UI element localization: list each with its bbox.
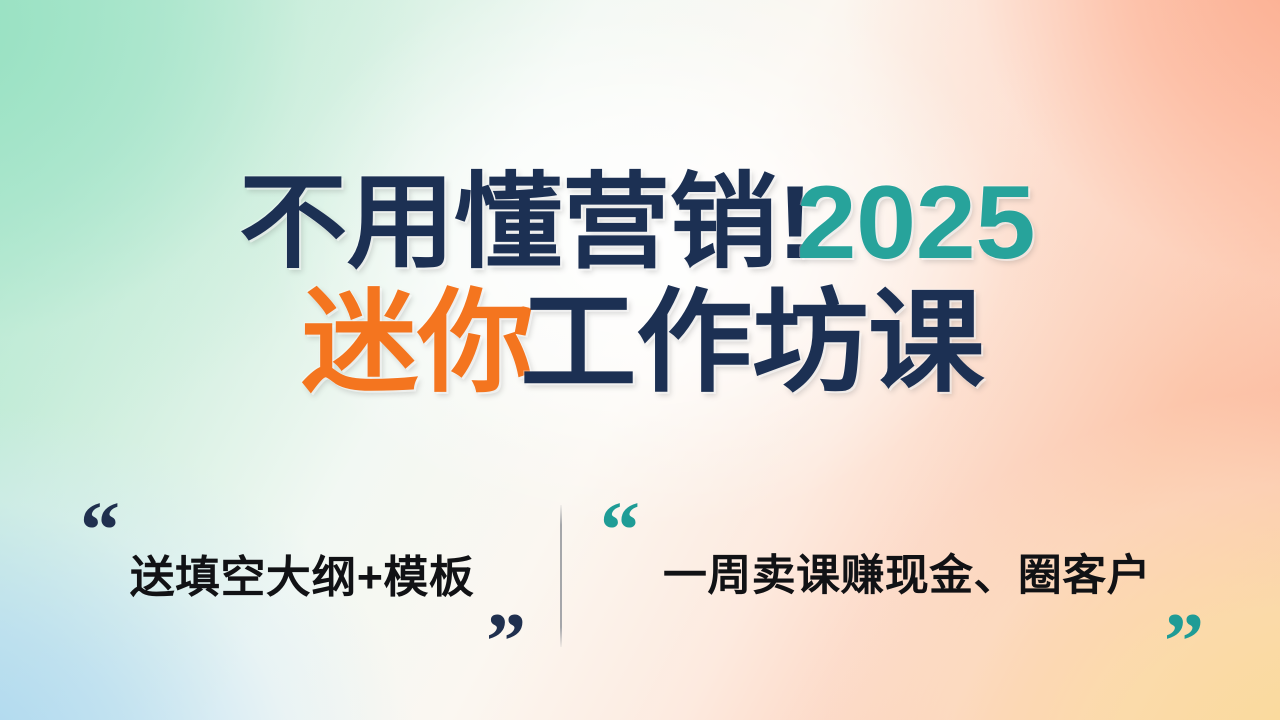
tagline-band: “ 送填空大纲+模板 ” “ 一周卖课赚现金、圈客户 ”: [0, 495, 1280, 660]
promo-poster: 不用懂营销!2025 迷你工作坊课 “ 送填空大纲+模板 ” “ 一周卖课赚现金…: [0, 0, 1280, 720]
headline-line-2-accent: 迷你: [301, 284, 533, 403]
tagline-divider: [560, 505, 562, 647]
headline-line-1: 不用懂营销!2025: [0, 168, 1280, 278]
tagline-left-text: 送填空大纲+模板: [57, 541, 547, 605]
headline-block: 不用懂营销!2025 迷你工作坊课: [0, 168, 1280, 403]
headline-line-2-primary: 工作坊课: [520, 284, 984, 403]
quote-close-icon-left: ”: [486, 602, 526, 682]
quote-close-icon-right: ”: [1164, 602, 1204, 682]
headline-line-1-year: 2025: [797, 168, 1036, 278]
tagline-left: “ 送填空大纲+模板 ”: [62, 495, 542, 660]
headline-line-2: 迷你工作坊课: [0, 284, 1280, 403]
headline-line-1-primary: 不用懂营销!: [238, 168, 812, 278]
tagline-right-text: 一周卖课赚现金、圈客户: [586, 541, 1229, 603]
tagline-right: “ 一周卖课赚现金、圈客户 ”: [592, 495, 1222, 660]
